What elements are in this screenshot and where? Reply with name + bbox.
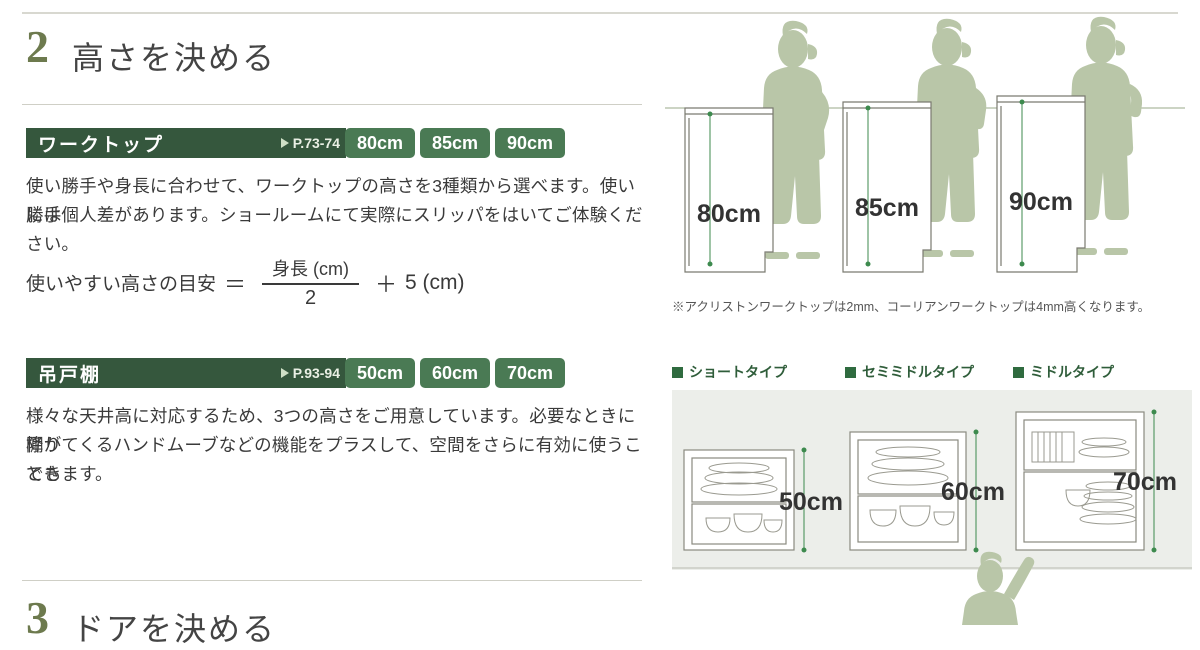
legend-label-1: セミミドルタイプ bbox=[862, 362, 974, 382]
worktop-chip-0[interactable]: 80cm bbox=[345, 128, 415, 158]
formula-fraction: 身長 (cm) 2 bbox=[262, 255, 359, 310]
counter-80 bbox=[685, 108, 773, 272]
triangle-right-icon bbox=[281, 138, 289, 148]
legend-label-0: ショートタイプ bbox=[689, 362, 787, 382]
next-section-number: 3 bbox=[26, 595, 49, 641]
formula-numerator: 身長 (cm) bbox=[262, 255, 359, 283]
worktop-illustration bbox=[665, 14, 1185, 314]
legend-square-icon bbox=[1013, 367, 1024, 378]
cabinet-dim-1: 60cm bbox=[941, 478, 1005, 507]
next-section-title: ドアを決める bbox=[72, 604, 276, 650]
cabinet-dim-2: 70cm bbox=[1113, 468, 1177, 497]
cabinet-short bbox=[684, 450, 794, 550]
worktop-chip-2[interactable]: 90cm bbox=[495, 128, 565, 158]
counter-85 bbox=[843, 102, 931, 272]
cabinet-body-line3: できます。 bbox=[26, 460, 646, 489]
heading-divider bbox=[22, 104, 642, 105]
worktop-chip-1[interactable]: 85cm bbox=[420, 128, 490, 158]
cabinet-chip-2[interactable]: 70cm bbox=[495, 358, 565, 388]
worktop-label-bar: ワークトップ P.73-74 bbox=[26, 128, 346, 158]
worktop-dim-2: 90cm bbox=[1009, 188, 1073, 217]
worktop-label: ワークトップ bbox=[38, 130, 164, 157]
worktop-page-ref-text: P.73-74 bbox=[293, 135, 340, 151]
worktop-page-ref[interactable]: P.73-74 bbox=[281, 128, 340, 158]
section-number: 2 bbox=[26, 24, 49, 70]
triangle-right-icon bbox=[281, 368, 289, 378]
catalog-page: 2 高さを決める ワークトップ P.73-74 80cm 85cm 90cm 使… bbox=[0, 0, 1200, 625]
section-title: 高さを決める bbox=[72, 33, 276, 79]
cabinet-illustration bbox=[672, 390, 1192, 625]
legend-square-icon bbox=[672, 367, 683, 378]
worktop-footnote: ※アクリストンワークトップは2mm、コーリアンワークトップは4mm高くなります。 bbox=[672, 296, 1150, 315]
formula-plus: ＋ bbox=[375, 267, 397, 299]
cabinet-dim-0: 50cm bbox=[779, 488, 843, 517]
cabinet-chip-1[interactable]: 60cm bbox=[420, 358, 490, 388]
legend-item-0: ショートタイプ bbox=[672, 362, 787, 382]
formula-denominator: 2 bbox=[305, 285, 316, 310]
formula-equals: ＝ bbox=[224, 267, 246, 299]
legend-square-icon bbox=[845, 367, 856, 378]
cabinet-chip-0[interactable]: 50cm bbox=[345, 358, 415, 388]
worktop-body-line2: には個人差があります。ショールームにて実際にスリッパをはいてご体験ください。 bbox=[26, 201, 646, 259]
height-formula: 使いやすい高さの目安 ＝ 身長 (cm) 2 ＋ 5 (cm) bbox=[26, 255, 465, 310]
worktop-dim-1: 85cm bbox=[855, 194, 919, 223]
next-section-divider bbox=[22, 580, 642, 581]
legend-item-2: ミドルタイプ bbox=[1013, 362, 1114, 382]
cabinet-page-ref-text: P.93-94 bbox=[293, 365, 340, 381]
formula-label: 使いやすい高さの目安 bbox=[26, 269, 216, 296]
cabinet-label-bar: 吊戸棚 P.93-94 bbox=[26, 358, 346, 388]
cabinet-page-ref[interactable]: P.93-94 bbox=[281, 358, 340, 388]
cabinet-label: 吊戸棚 bbox=[38, 360, 101, 387]
formula-tail: 5 (cm) bbox=[405, 271, 465, 295]
counter-90 bbox=[997, 96, 1085, 272]
legend-item-1: セミミドルタイプ bbox=[845, 362, 974, 382]
worktop-dim-0: 80cm bbox=[697, 200, 761, 229]
legend-label-2: ミドルタイプ bbox=[1030, 362, 1114, 382]
